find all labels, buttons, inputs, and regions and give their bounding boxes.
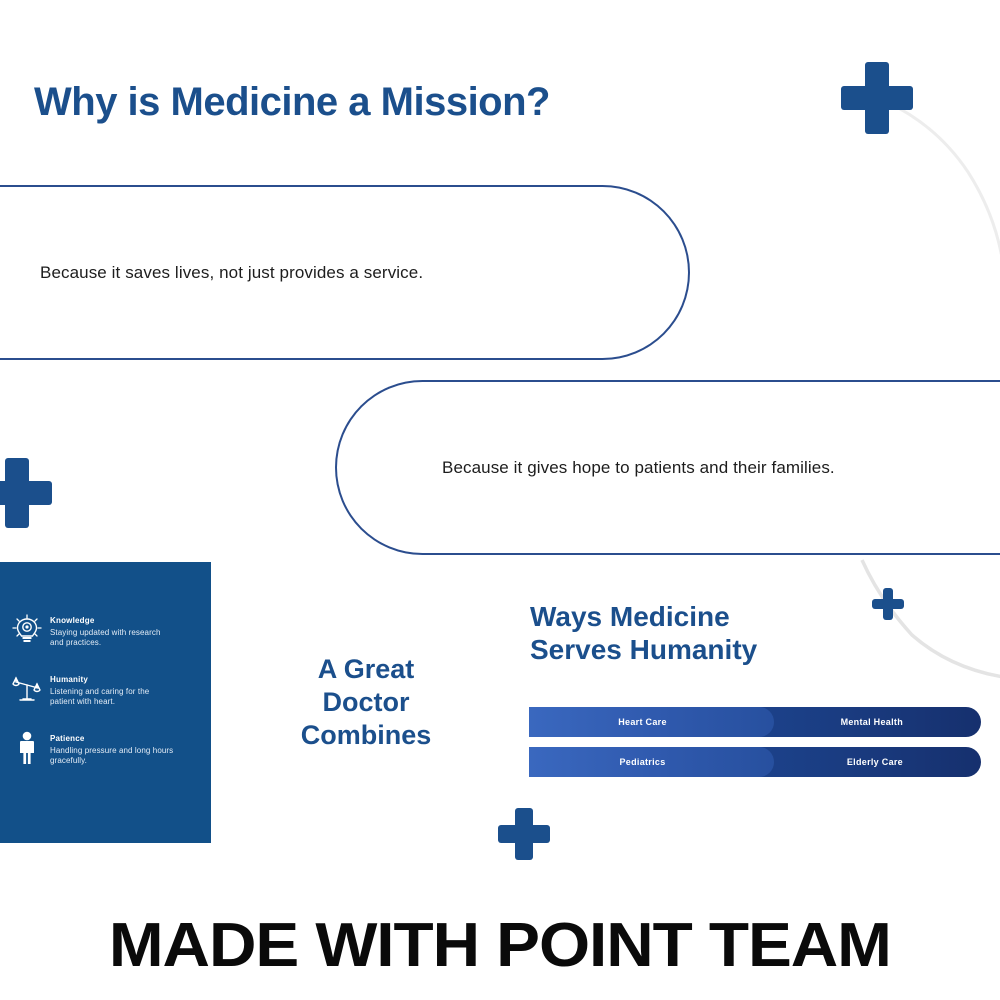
- way-pill-pediatrics[interactable]: Pediatrics: [529, 747, 774, 777]
- lightbulb-gear-icon: [8, 610, 46, 650]
- statement-pill-2-text: Because it gives hope to patients and th…: [337, 458, 835, 478]
- value-description: Staying updated with research and practi…: [50, 628, 174, 648]
- value-title: Patience: [50, 734, 85, 743]
- value-description: Handling pressure and long hours gracefu…: [50, 746, 174, 766]
- cross-bar-vertical: [865, 62, 889, 134]
- cross-bottom-center-icon: [498, 808, 550, 860]
- value-item-patience: Patience Handling pressure and long hour…: [8, 728, 199, 768]
- combines-line-3: Combines: [268, 719, 464, 752]
- value-title: Knowledge: [50, 616, 94, 625]
- cross-bar-vertical: [883, 588, 894, 620]
- statement-pill-1: Because it saves lives, not just provide…: [0, 185, 690, 360]
- value-copy: Patience Handling pressure and long hour…: [46, 728, 174, 766]
- person-icon: [8, 728, 46, 768]
- cross-small-right-icon: [872, 588, 904, 620]
- infographic-canvas: Why is Medicine a Mission? Because it sa…: [0, 0, 1000, 1000]
- ways-heading-line-1: Ways Medicine: [530, 600, 757, 633]
- footer-banner: MADE WITH POINT TEAM: [0, 890, 1000, 1000]
- value-copy: Humanity Listening and caring for the pa…: [46, 669, 174, 707]
- cross-left-mid-icon: [0, 458, 52, 528]
- value-item-knowledge: Knowledge Staying updated with research …: [8, 610, 199, 650]
- value-copy: Knowledge Staying updated with research …: [46, 610, 174, 648]
- combines-heading: A Great Doctor Combines: [268, 653, 464, 752]
- ways-heading: Ways Medicine Serves Humanity: [530, 600, 757, 666]
- cross-bar-vertical: [5, 458, 28, 528]
- combines-line-2: Doctor: [268, 686, 464, 719]
- balance-scales-icon: [8, 669, 46, 709]
- cross-bar-vertical: [515, 808, 532, 860]
- ways-heading-line-2: Serves Humanity: [530, 633, 757, 666]
- ways-list: Mental Health Heart Care Elderly Care Pe…: [529, 707, 981, 787]
- statement-pill-2: Because it gives hope to patients and th…: [335, 380, 1000, 555]
- footer-text: MADE WITH POINT TEAM: [109, 910, 891, 981]
- ways-row: Mental Health Heart Care: [529, 707, 981, 737]
- value-description: Listening and caring for the patient wit…: [50, 687, 174, 707]
- page-title: Why is Medicine a Mission?: [34, 80, 550, 125]
- values-panel: Knowledge Staying updated with research …: [0, 562, 211, 843]
- cross-top-right-icon: [841, 62, 913, 134]
- way-pill-heart-care[interactable]: Heart Care: [529, 707, 774, 737]
- statement-pill-1-text: Because it saves lives, not just provide…: [0, 263, 423, 283]
- ways-row: Elderly Care Pediatrics: [529, 747, 981, 777]
- combines-line-1: A Great: [268, 653, 464, 686]
- value-title: Humanity: [50, 675, 88, 684]
- value-item-humanity: Humanity Listening and caring for the pa…: [8, 669, 199, 709]
